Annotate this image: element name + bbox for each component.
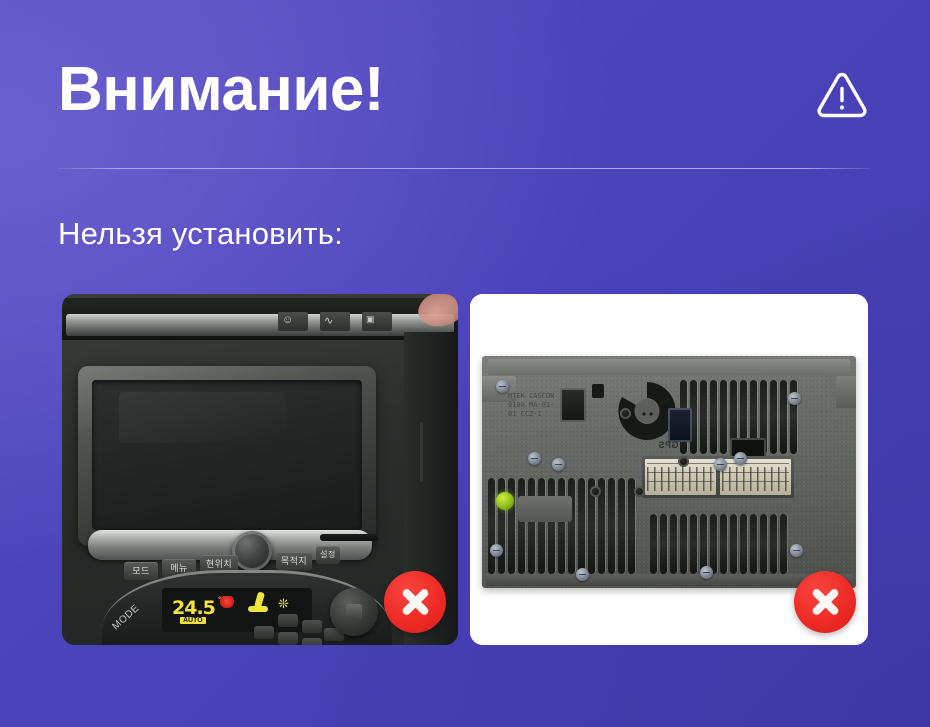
climate-control-panel: 24.5 ° AUTO ❊ MODE — [102, 570, 392, 645]
volume-knob — [232, 531, 272, 571]
climate-dial — [330, 588, 378, 636]
head-unit-rear-panel: MTEK CASCON 010A MA-01-01 СС2-1 GPS — [482, 356, 856, 588]
screw-bottom-right — [700, 566, 713, 579]
mounting-bracket-right — [836, 376, 856, 408]
screw-top-left — [496, 380, 509, 393]
screw-mid-right-2 — [734, 452, 747, 465]
chrome-trim — [66, 314, 454, 336]
card-head-unit-rear: MTEK CASCON 010A MA-01-01 СС2-1 GPS — [470, 294, 868, 645]
button-mode: 모드 — [124, 562, 158, 580]
screw-bottom-left — [490, 544, 503, 557]
climate-button-5 — [278, 632, 298, 645]
label-plate — [518, 496, 572, 522]
climate-button-6 — [302, 638, 322, 645]
climate-button-2 — [302, 620, 322, 633]
heatsink-fins-bottom-left — [488, 478, 635, 574]
mount-hole-right — [634, 486, 645, 497]
page-title: Внимание! — [58, 52, 384, 128]
defrost-icon: ☺ — [282, 314, 293, 326]
green-indicator — [496, 492, 514, 510]
cd-slot — [320, 534, 378, 541]
display-icon: ▣ — [366, 314, 375, 325]
heatsink-fins-bottom-right — [650, 514, 787, 574]
bottom-rail — [486, 574, 852, 586]
climate-auto-badge: AUTO — [180, 617, 206, 624]
header-divider — [58, 168, 870, 169]
button-settings: 설정 — [316, 546, 340, 564]
vent-hole-top — [620, 408, 631, 419]
vent-hole-mid — [678, 456, 689, 467]
warning-slide: Внимание! Нельзя установить: — [0, 0, 930, 727]
screw-bottom-mid — [576, 568, 589, 581]
climate-button-4 — [254, 626, 274, 639]
top-rail — [488, 359, 850, 375]
screw-top-right — [788, 392, 801, 405]
screen-bezel — [78, 366, 376, 546]
screen-glare — [119, 392, 286, 443]
harness-pins-left — [647, 467, 714, 491]
blower-fan-icon: ❊ — [278, 597, 291, 610]
button-destination: 목적지 — [276, 552, 312, 570]
status-badge-not-allowed — [794, 571, 856, 633]
navigation-screen — [92, 380, 362, 530]
climate-temperature: 24.5 — [172, 597, 215, 619]
screw-mid-left — [528, 452, 541, 465]
antenna-jack — [560, 388, 586, 422]
gps-antenna-jack — [668, 408, 692, 442]
embossed-part-number: MTEK CASCON 010A MA-01-01 СС2-1 — [508, 392, 558, 420]
status-badge-not-allowed — [384, 571, 446, 633]
card-car-dashboard: ☺ ∿ ▣ 모드 메뉴 현위치 목적지 — [62, 294, 458, 645]
harness-pins-right — [722, 467, 789, 491]
small-connector — [592, 384, 604, 398]
card-row: ☺ ∿ ▣ 모드 메뉴 현위치 목적지 — [62, 294, 868, 645]
gps-label: GPS — [658, 440, 679, 450]
warning-triangle-icon — [814, 66, 870, 122]
screw-mid-right — [714, 458, 727, 471]
screw-bottom-far-right — [790, 544, 803, 557]
header: Внимание! — [58, 52, 870, 148]
screw-mid-left-2 — [552, 458, 565, 471]
climate-button-1 — [278, 614, 298, 627]
fan-icon: ∿ — [324, 314, 333, 327]
subtitle: Нельзя установить: — [58, 214, 343, 254]
seat-airflow-icon — [246, 592, 270, 616]
temperature-indicator-icon — [220, 596, 234, 608]
harness-block-right — [720, 459, 791, 495]
mount-hole-left — [590, 486, 601, 497]
dashboard-top-strip — [62, 298, 458, 340]
